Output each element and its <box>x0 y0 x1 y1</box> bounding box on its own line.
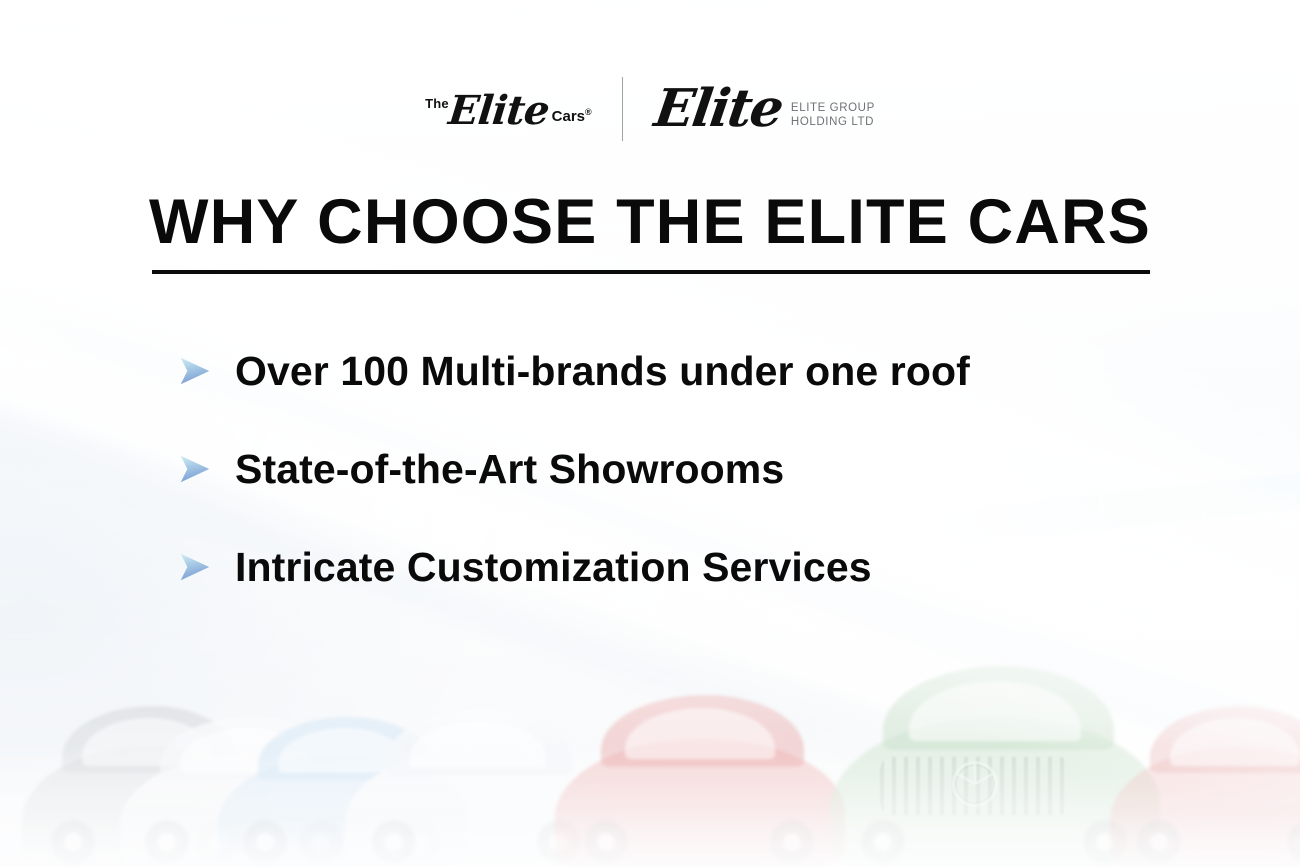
arrow-right-icon <box>175 352 213 390</box>
the-elite-cars-logo: The Elite Cars® <box>425 90 620 128</box>
logo-group-line-2: HOLDING LTD <box>791 115 875 129</box>
benefits-list: Over 100 Multi-brands under one roof Sta… <box>0 322 1300 616</box>
logo-script-elite: Elite <box>447 92 551 130</box>
logo-group-line-1: ELITE GROUP <box>791 101 875 115</box>
title-underline-rule <box>152 270 1150 274</box>
arrow-right-icon <box>175 450 213 488</box>
slide-content: The Elite Cars® Elite ELITE GROUP HOLDIN… <box>0 0 1300 867</box>
slide-canvas: The Elite Cars® Elite ELITE GROUP HOLDIN… <box>0 0 1300 867</box>
logo-script-elite-group: Elite <box>651 86 784 133</box>
list-item-label: State-of-the-Art Showrooms <box>235 446 784 493</box>
elite-group-holding-logo: Elite ELITE GROUP HOLDING LTD <box>625 86 875 133</box>
registered-mark-icon: ® <box>585 107 592 117</box>
list-item: Over 100 Multi-brands under one roof <box>0 322 1300 420</box>
logo-group-wordmark: ELITE GROUP HOLDING LTD <box>791 101 875 130</box>
page-title: WHY CHOOSE THE ELITE CARS <box>0 186 1300 258</box>
logo-prefix-the: The <box>425 96 449 111</box>
logo-divider <box>622 77 623 141</box>
arrow-right-icon <box>175 548 213 586</box>
logo-suffix-cars-text: Cars <box>552 108 585 125</box>
list-item: Intricate Customization Services <box>0 518 1300 616</box>
list-item-label: Over 100 Multi-brands under one roof <box>235 348 970 395</box>
logo-bar: The Elite Cars® Elite ELITE GROUP HOLDIN… <box>0 74 1300 144</box>
list-item-label: Intricate Customization Services <box>235 544 872 591</box>
list-item: State-of-the-Art Showrooms <box>0 420 1300 518</box>
logo-suffix-cars: Cars® <box>552 107 592 125</box>
